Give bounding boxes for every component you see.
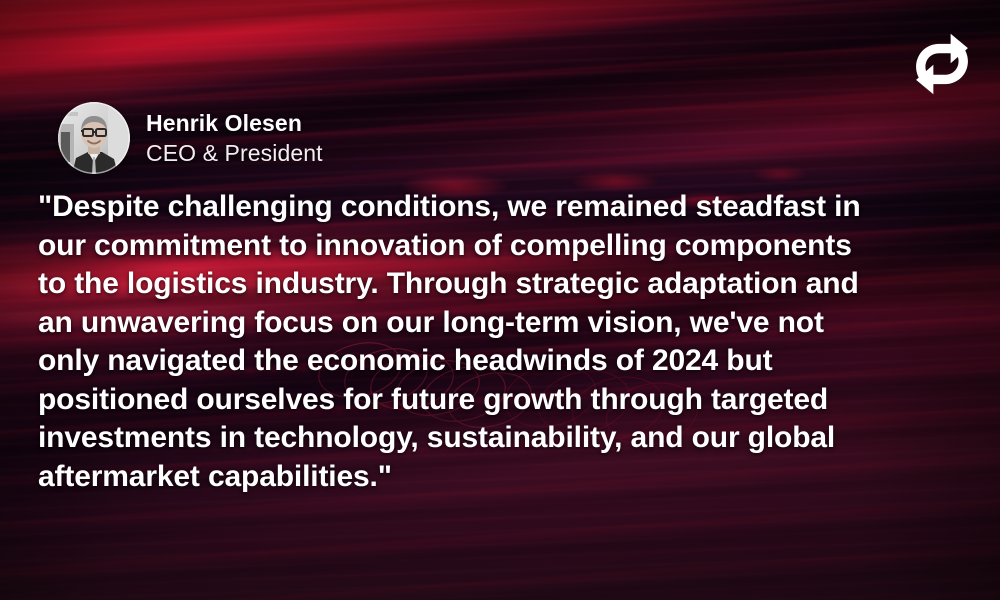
author-name: Henrik Olesen — [146, 112, 323, 135]
author-text: Henrik Olesen CEO & President — [146, 112, 323, 165]
cycle-arrows-icon — [906, 28, 978, 100]
author-block: Henrik Olesen CEO & President — [58, 102, 323, 174]
quote-card: Henrik Olesen CEO & President "Despite c… — [0, 0, 1000, 600]
quote-text: "Despite challenging conditions, we rema… — [38, 188, 943, 496]
avatar — [58, 102, 130, 174]
author-role: CEO & President — [146, 142, 323, 165]
